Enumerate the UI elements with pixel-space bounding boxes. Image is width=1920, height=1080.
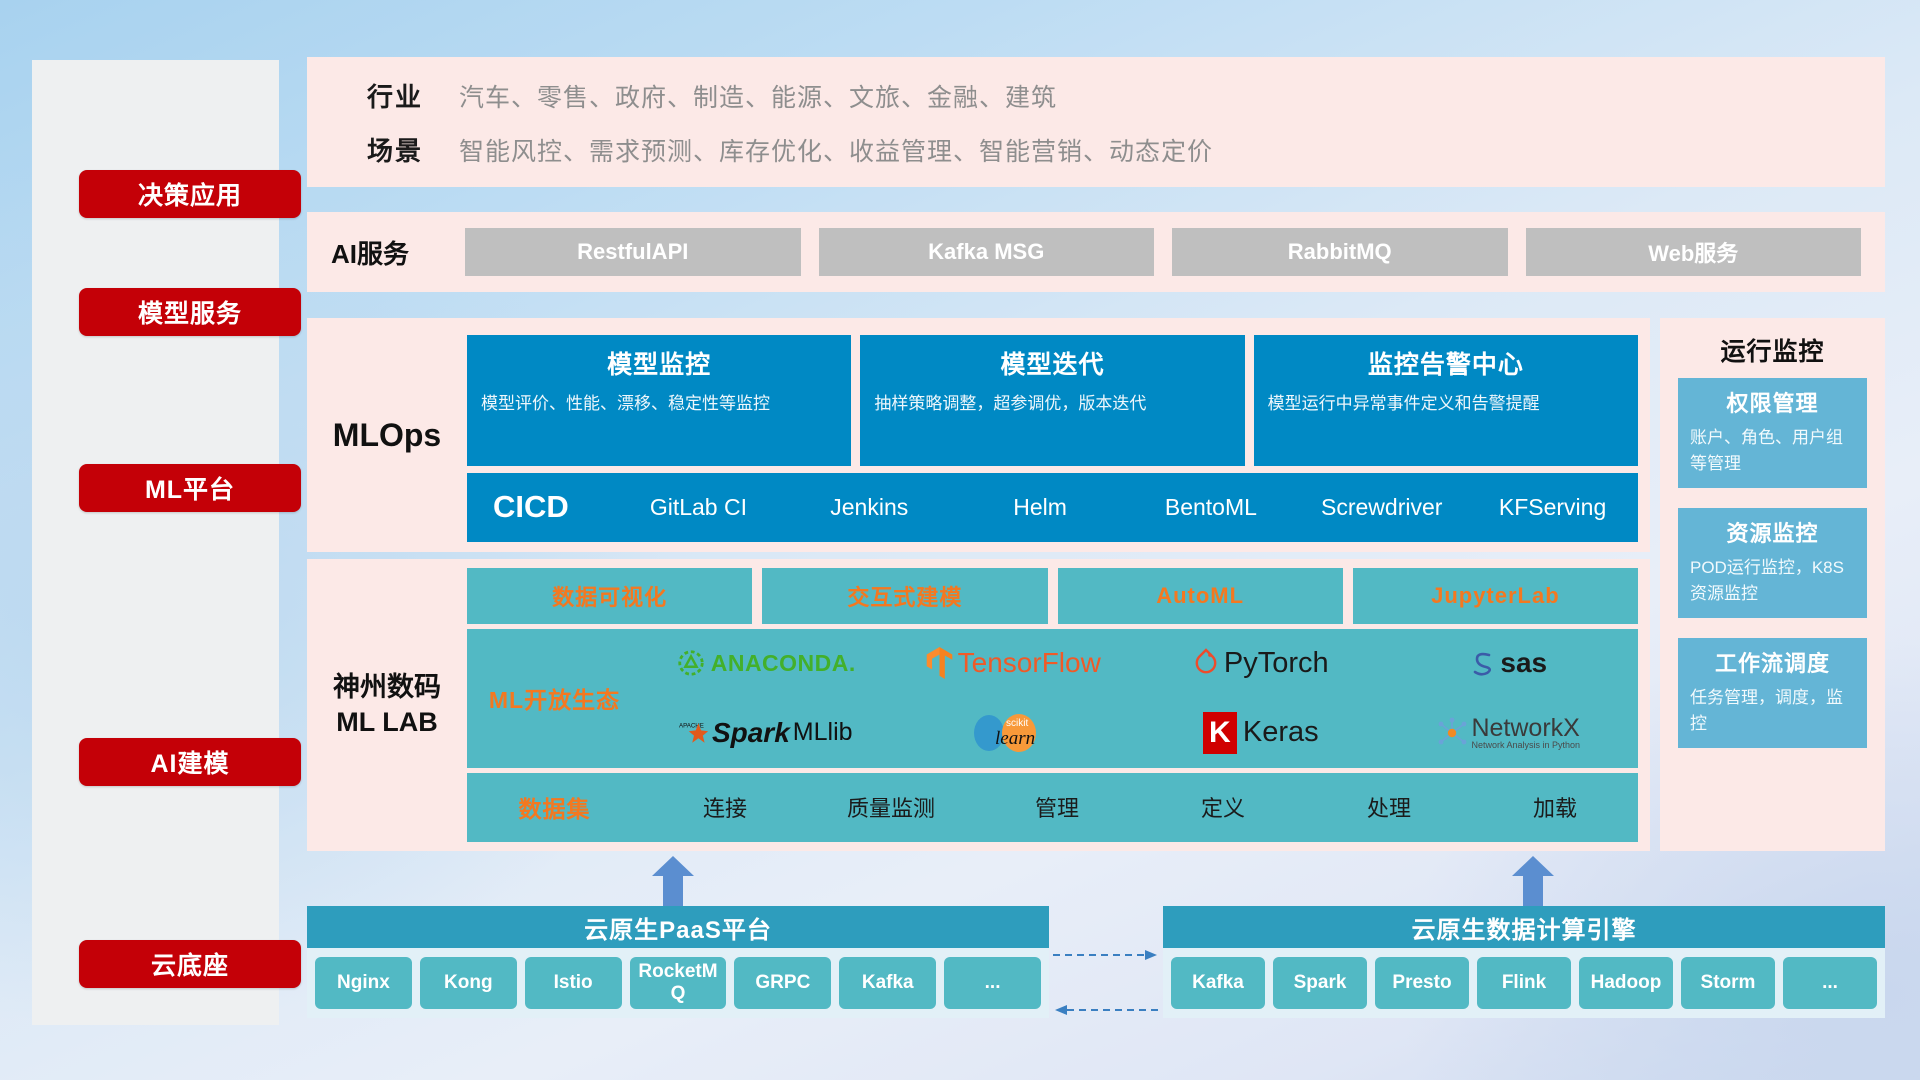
rail-item-decision-app[interactable]: 决策应用 — [79, 170, 301, 218]
cloud-data-engine-section: 云原生数据计算引擎 Kafka Spark Presto Flink Hadoo… — [1163, 906, 1885, 1018]
cloud-chip-kong[interactable]: Kong — [420, 957, 517, 1009]
tensorflow-icon — [926, 647, 953, 679]
cloud-data-engine-chip-list: Kafka Spark Presto Flink Hadoop Storm ..… — [1163, 948, 1885, 1018]
dataset-label: 数据集 — [467, 790, 642, 824]
card-title: 模型迭代 — [874, 345, 1230, 381]
svg-text:learn: learn — [995, 728, 1035, 749]
dataset-item-manage[interactable]: 管理 — [974, 791, 1140, 823]
data-chip-spark[interactable]: Spark — [1273, 957, 1367, 1009]
rail-item-label: 决策应用 — [138, 176, 242, 212]
monitoring-card-resource[interactable]: 资源监控 POD运行监控，K8S资源监控 — [1678, 508, 1867, 618]
rail-item-cloud-foundation[interactable]: 云底座 — [79, 940, 301, 988]
monitoring-card-list: 权限管理 账户、角色、用户组等管理 资源监控 POD运行监控，K8S资源监控 工… — [1660, 378, 1885, 748]
scenario-line: 场景 智能风控、需求预测、库存优化、收益管理、智能营销、动态定价 — [331, 131, 1213, 168]
monitoring-card-permission[interactable]: 权限管理 账户、角色、用户组等管理 — [1678, 378, 1867, 488]
scikit-learn-logo: scikit learn — [890, 710, 1138, 756]
cloud-chip-nginx[interactable]: Nginx — [315, 957, 412, 1009]
ai-service-box-list: RestfulAPI Kafka MSG RabbitMQ Web服务 — [459, 228, 1885, 276]
industry-scenario-panel: 行业 汽车、零售、政府、制造、能源、文旅、金融、建筑 场景 智能风控、需求预测、… — [307, 57, 1885, 187]
data-chip-kafka[interactable]: Kafka — [1171, 957, 1265, 1009]
anaconda-icon — [676, 648, 706, 678]
mlops-card-model-monitoring[interactable]: 模型监控 模型评价、性能、漂移、稳定性等监控 — [467, 335, 851, 466]
cloud-chip-kafka[interactable]: Kafka — [839, 957, 936, 1009]
ml-lab-label: 神州数码 ML LAB — [307, 559, 467, 851]
sas-logo: sas — [1385, 647, 1633, 679]
ml-ecosystem-bar: ML开放生态 ANACONDA. — [467, 629, 1638, 768]
cicd-item-screwdriver[interactable]: Screwdriver — [1296, 493, 1467, 522]
scikit-learn-icon: scikit learn — [965, 710, 1061, 756]
card-desc: POD运行监控，K8S资源监控 — [1690, 555, 1855, 606]
layer-rail: 决策应用 模型服务 ML平台 AI建模 — [32, 60, 279, 1025]
keras-logo: K Keras — [1137, 712, 1385, 754]
data-chip-storm[interactable]: Storm — [1681, 957, 1775, 1009]
cloud-chip-rocketmq[interactable]: RocketMQ — [630, 957, 727, 1009]
card-desc: 账户、角色、用户组等管理 — [1690, 425, 1855, 476]
anaconda-logo: ANACONDA. — [642, 648, 890, 678]
ai-service-box-kafka-msg[interactable]: Kafka MSG — [819, 228, 1155, 276]
cloud-chip-istio[interactable]: Istio — [525, 957, 622, 1009]
ai-service-box-rabbitmq[interactable]: RabbitMQ — [1172, 228, 1508, 276]
mlops-card-alert-center[interactable]: 监控告警中心 模型运行中异常事件定义和告警提醒 — [1254, 335, 1638, 466]
networkx-logo: NetworkX Network Analysis in Python — [1385, 716, 1633, 750]
mlops-panel: MLOps 模型监控 模型评价、性能、漂移、稳定性等监控 模型迭代 抽样策略调整… — [307, 318, 1650, 552]
dashed-arrow-left-icon — [1053, 1002, 1159, 1012]
dataset-item-connect[interactable]: 连接 — [642, 791, 808, 823]
card-desc: 模型评价、性能、漂移、稳定性等监控 — [481, 391, 837, 417]
card-desc: 抽样策略调整，超参调优，版本迭代 — [874, 391, 1230, 417]
cicd-item-bentoml[interactable]: BentoML — [1125, 493, 1296, 522]
card-title: 监控告警中心 — [1268, 345, 1624, 381]
dataset-item-define[interactable]: 定义 — [1140, 791, 1306, 823]
scenario-values: 智能风控、需求预测、库存优化、收益管理、智能营销、动态定价 — [459, 132, 1213, 168]
mlops-card-list: 模型监控 模型评价、性能、漂移、稳定性等监控 模型迭代 抽样策略调整，超参调优，… — [467, 335, 1638, 466]
pytorch-logo: PyTorch — [1137, 647, 1385, 680]
mlops-content: 模型监控 模型评价、性能、漂移、稳定性等监控 模型迭代 抽样策略调整，超参调优，… — [467, 318, 1650, 552]
keras-icon: K — [1203, 712, 1237, 754]
rail-item-label: ML平台 — [145, 470, 235, 506]
ml-lab-tool-jupyterlab[interactable]: JupyterLab — [1353, 568, 1638, 624]
cicd-bar: CICD GitLab CI Jenkins Helm BentoML Scre… — [467, 473, 1638, 542]
ai-service-box-restfulapi[interactable]: RestfulAPI — [465, 228, 801, 276]
monitoring-title: 运行监控 — [1660, 318, 1885, 368]
dataset-item-load[interactable]: 加载 — [1472, 791, 1638, 823]
cicd-label: CICD — [493, 489, 613, 525]
rail-item-label: 云底座 — [151, 946, 229, 982]
ml-lab-panel: 神州数码 ML LAB 数据可视化 交互式建模 AutoML JupyterLa… — [307, 559, 1650, 851]
dataset-bar: 数据集 连接 质量监测 管理 定义 处理 加载 — [467, 773, 1638, 842]
cloud-paas-chip-list: Nginx Kong Istio RocketMQ GRPC Kafka ... — [307, 948, 1049, 1018]
data-chip-hadoop[interactable]: Hadoop — [1579, 957, 1673, 1009]
ml-lab-label-cn: 神州数码 — [333, 670, 441, 705]
ml-lab-tool-list: 数据可视化 交互式建模 AutoML JupyterLab — [467, 568, 1638, 624]
up-arrow-paas-icon — [650, 856, 696, 906]
tensorflow-logo: TensorFlow — [890, 647, 1138, 679]
data-chip-flink[interactable]: Flink — [1477, 957, 1571, 1009]
dashed-arrow-right-icon — [1053, 947, 1159, 957]
card-desc: 任务管理，调度，监控 — [1690, 685, 1855, 736]
cicd-item-gitlab-ci[interactable]: GitLab CI — [613, 493, 784, 522]
rail-item-ai-modeling[interactable]: AI建模 — [79, 738, 301, 786]
ml-lab-label-en: ML LAB — [336, 705, 438, 740]
ml-lab-tool-interactive-modeling[interactable]: 交互式建模 — [762, 568, 1047, 624]
card-title: 资源监控 — [1690, 516, 1855, 548]
up-arrow-data-engine-icon — [1510, 856, 1556, 906]
dataset-item-list: 连接 质量监测 管理 定义 处理 加载 — [642, 791, 1638, 823]
networkx-icon — [1436, 717, 1468, 749]
cicd-item-jenkins[interactable]: Jenkins — [784, 493, 955, 522]
ml-lab-tool-automl[interactable]: AutoML — [1058, 568, 1343, 624]
industry-line: 行业 汽车、零售、政府、制造、能源、文旅、金融、建筑 — [331, 77, 1057, 114]
ml-ecosystem-logo-row: APACHE Spark MLlib — [642, 698, 1632, 767]
ai-service-panel: AI服务 RestfulAPI Kafka MSG RabbitMQ Web服务 — [307, 212, 1885, 292]
rail-item-label: 模型服务 — [138, 294, 242, 330]
cloud-chip-grpc[interactable]: GRPC — [734, 957, 831, 1009]
mlops-card-model-iteration[interactable]: 模型迭代 抽样策略调整，超参调优，版本迭代 — [860, 335, 1244, 466]
dataset-item-process[interactable]: 处理 — [1306, 791, 1472, 823]
rail-item-label: AI建模 — [150, 744, 229, 780]
mlops-label: MLOps — [307, 318, 467, 552]
ai-service-label: AI服务 — [331, 234, 459, 271]
ai-service-box-web-service[interactable]: Web服务 — [1526, 228, 1862, 276]
scenario-label: 场景 — [331, 131, 459, 168]
card-title: 模型监控 — [481, 345, 837, 381]
cloud-paas-title: 云原生PaaS平台 — [307, 906, 1049, 948]
data-chip-presto[interactable]: Presto — [1375, 957, 1469, 1009]
pytorch-icon — [1193, 648, 1219, 678]
card-title: 工作流调度 — [1690, 646, 1855, 678]
monitoring-card-workflow[interactable]: 工作流调度 任务管理，调度，监控 — [1678, 638, 1867, 748]
industry-label: 行业 — [331, 77, 459, 114]
sas-icon — [1469, 648, 1495, 678]
ml-ecosystem-logo-row: ANACONDA. TensorFlow — [642, 629, 1632, 698]
cloud-chip-more[interactable]: ... — [944, 957, 1041, 1009]
cicd-item-kfserving[interactable]: KFServing — [1467, 493, 1638, 522]
dataset-item-quality-monitoring[interactable]: 质量监测 — [808, 791, 974, 823]
rail-item-model-service[interactable]: 模型服务 — [79, 288, 301, 336]
card-title: 权限管理 — [1690, 386, 1855, 418]
cloud-paas-section: 云原生PaaS平台 Nginx Kong Istio RocketMQ GRPC… — [307, 906, 1049, 1018]
industry-values: 汽车、零售、政府、制造、能源、文旅、金融、建筑 — [459, 78, 1057, 114]
rail-item-ml-platform[interactable]: ML平台 — [79, 464, 301, 512]
ml-ecosystem-label: ML开放生态 — [467, 681, 642, 715]
architecture-diagram: 决策应用 模型服务 ML平台 AI建模 云底座 行业 汽车、零售、政府、制造、能… — [0, 0, 1920, 1080]
ml-lab-tool-data-visualization[interactable]: 数据可视化 — [467, 568, 752, 624]
cicd-item-helm[interactable]: Helm — [955, 493, 1126, 522]
monitoring-panel: 运行监控 权限管理 账户、角色、用户组等管理 资源监控 POD运行监控，K8S资… — [1660, 318, 1885, 851]
card-desc: 模型运行中异常事件定义和告警提醒 — [1268, 391, 1624, 417]
spark-mllib-logo: APACHE Spark MLlib — [642, 716, 890, 750]
ml-ecosystem-logo-grid: ANACONDA. TensorFlow — [642, 629, 1638, 768]
cloud-data-engine-title: 云原生数据计算引擎 — [1163, 906, 1885, 948]
cicd-item-list: GitLab CI Jenkins Helm BentoML Screwdriv… — [613, 493, 1638, 522]
spark-star-icon: APACHE — [679, 716, 709, 750]
ml-lab-content: 数据可视化 交互式建模 AutoML JupyterLab ML开放生态 — [467, 559, 1650, 851]
data-chip-more[interactable]: ... — [1783, 957, 1877, 1009]
